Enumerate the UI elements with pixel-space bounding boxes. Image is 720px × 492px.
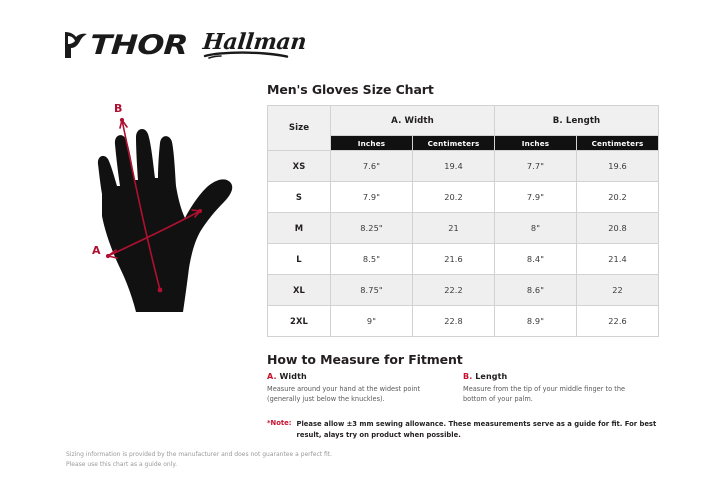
- header-length-inches: Inches: [495, 136, 577, 151]
- hallman-logo: Hallman: [203, 31, 306, 59]
- hallman-wordmark: Hallman: [202, 31, 307, 53]
- cell-length-centimeters: 20.2: [577, 182, 659, 213]
- measure-width-heading: A. Width: [267, 372, 453, 381]
- thor-hammer-emblem-icon: [62, 30, 88, 60]
- measure-length-block: B. Length Measure from the tip of your m…: [463, 372, 659, 404]
- header-size: Size: [268, 106, 331, 151]
- cell-width-inches: 8.75": [331, 275, 413, 306]
- cell-width-centimeters: 19.4: [413, 151, 495, 182]
- header-width-inches: Inches: [331, 136, 413, 151]
- how-to-measure-title: How to Measure for Fitment: [267, 352, 463, 367]
- measure-width-text: Measure around your hand at the widest p…: [267, 384, 453, 404]
- cell-size: L: [268, 244, 331, 275]
- cell-length-inches: 8.6": [495, 275, 577, 306]
- table-header-row-groups: Size A. Width B. Length: [268, 106, 659, 136]
- table-head: Size A. Width B. Length Inches Centimete…: [268, 106, 659, 151]
- measure-length-letter: B.: [463, 372, 472, 381]
- header-width-centimeters: Centimeters: [413, 136, 495, 151]
- cell-length-centimeters: 19.6: [577, 151, 659, 182]
- cell-size: M: [268, 213, 331, 244]
- size-chart-table: Size A. Width B. Length Inches Centimete…: [267, 105, 659, 337]
- table-row: M 8.25" 21 8" 20.8: [268, 213, 659, 244]
- note-row: *Note: Please allow ±3 mm sewing allowan…: [267, 419, 659, 441]
- hand-measurement-diagram: A B: [72, 98, 264, 316]
- cell-length-inches: 7.7": [495, 151, 577, 182]
- measure-length-text: Measure from the tip of your middle fing…: [463, 384, 649, 404]
- table-row: L 8.5" 21.6 8.4" 21.4: [268, 244, 659, 275]
- table-row: S 7.9" 20.2 7.9" 20.2: [268, 182, 659, 213]
- cell-width-centimeters: 20.2: [413, 182, 495, 213]
- cell-size: XS: [268, 151, 331, 182]
- cell-size: 2XL: [268, 306, 331, 337]
- cell-width-inches: 8.5": [331, 244, 413, 275]
- measure-width-letter: A.: [267, 372, 277, 381]
- measure-length-name: Length: [475, 372, 507, 381]
- thor-wordmark: THOR: [89, 32, 188, 59]
- table-row: XS 7.6" 19.4 7.7" 19.6: [268, 151, 659, 182]
- cell-length-centimeters: 22: [577, 275, 659, 306]
- cell-width-centimeters: 22.2: [413, 275, 495, 306]
- thor-logo: THOR: [62, 30, 173, 60]
- footer-disclaimer: Sizing information is provided by the ma…: [66, 450, 332, 470]
- table-row: XL 8.75" 22.2 8.6" 22: [268, 275, 659, 306]
- size-chart-page: THOR Hallman A B Men's Gloves Size Chart: [0, 0, 720, 492]
- diagram-label-b: B: [114, 102, 122, 115]
- cell-size: XL: [268, 275, 331, 306]
- cell-width-centimeters: 21: [413, 213, 495, 244]
- note-label: *Note:: [267, 419, 292, 427]
- cell-size: S: [268, 182, 331, 213]
- cell-width-inches: 7.9": [331, 182, 413, 213]
- cell-length-inches: 7.9": [495, 182, 577, 213]
- table-body: XS 7.6" 19.4 7.7" 19.6 S 7.9" 20.2 7.9" …: [268, 151, 659, 337]
- brand-logo-bar: THOR Hallman: [62, 30, 306, 60]
- cell-width-inches: 8.25": [331, 213, 413, 244]
- cell-length-centimeters: 20.8: [577, 213, 659, 244]
- cell-width-centimeters: 22.8: [413, 306, 495, 337]
- disclaimer-line-2: Please use this chart as a guide only.: [66, 460, 332, 470]
- how-to-measure-columns: A. Width Measure around your hand at the…: [267, 372, 659, 404]
- header-length-centimeters: Centimeters: [577, 136, 659, 151]
- cell-length-inches: 8.4": [495, 244, 577, 275]
- cell-width-centimeters: 21.6: [413, 244, 495, 275]
- header-group-length: B. Length: [495, 106, 659, 136]
- note-text: Please allow ±3 mm sewing allowance. The…: [297, 419, 660, 441]
- cell-length-centimeters: 22.6: [577, 306, 659, 337]
- disclaimer-line-1: Sizing information is provided by the ma…: [66, 450, 332, 460]
- measure-width-name: Width: [279, 372, 306, 381]
- cell-length-inches: 8.9": [495, 306, 577, 337]
- header-group-width: A. Width: [331, 106, 495, 136]
- cell-width-inches: 7.6": [331, 151, 413, 182]
- cell-width-inches: 9": [331, 306, 413, 337]
- chart-title: Men's Gloves Size Chart: [267, 82, 434, 97]
- diagram-label-a: A: [92, 244, 101, 257]
- cell-length-inches: 8": [495, 213, 577, 244]
- measure-length-heading: B. Length: [463, 372, 649, 381]
- table-row: 2XL 9" 22.8 8.9" 22.6: [268, 306, 659, 337]
- measure-width-block: A. Width Measure around your hand at the…: [267, 372, 463, 404]
- cell-length-centimeters: 21.4: [577, 244, 659, 275]
